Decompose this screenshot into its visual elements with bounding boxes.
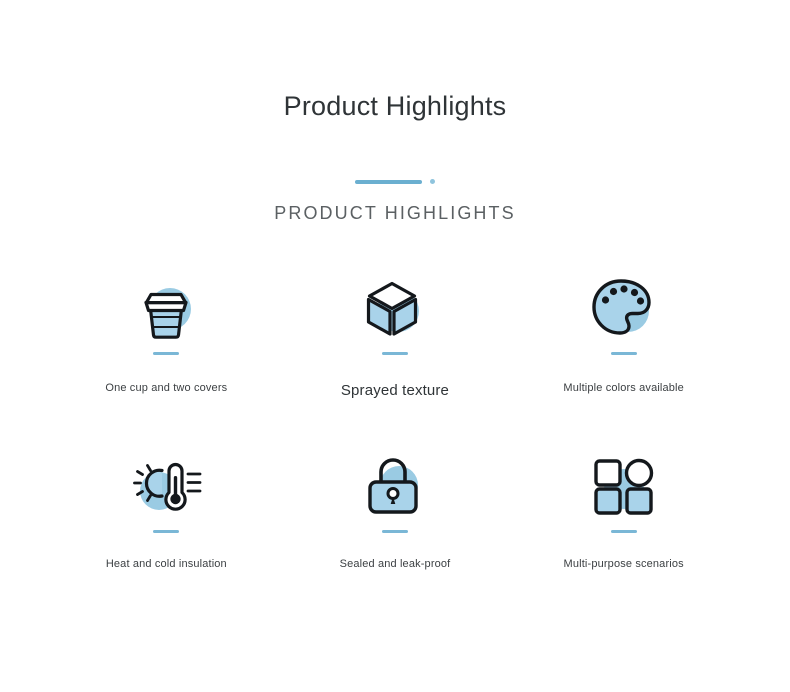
feature-label: Heat and cold insulation [106,558,227,570]
feature-cell-multi-purpose-scenarios: Multi-purpose scenarios [509,448,738,626]
feature-label: Sealed and leak-proof [340,558,451,570]
feature-label: Multiple colors available [563,382,684,394]
divider-dot [430,179,435,184]
paint-palette-icon [581,270,667,346]
page-header: Product Highlights PRODUCT HIGHLIGHTS [0,0,790,224]
page-subtitle: PRODUCT HIGHLIGHTS [0,203,790,224]
divider-line [355,180,422,184]
feature-grid: One cup and two covers Sprayed texture [0,270,790,626]
feature-cell-sprayed-texture: Sprayed texture [281,270,510,448]
coffee-cup-icon [123,270,209,346]
feature-label: Sprayed texture [341,382,449,399]
feature-cell-sealed-leak-proof: Sealed and leak-proof [281,448,510,626]
cube-box-icon [352,270,438,346]
padlock-icon [352,448,438,524]
feature-rule [611,352,637,355]
product-highlights-page: Product Highlights PRODUCT HIGHLIGHTS On… [0,0,790,692]
feature-rule [382,530,408,533]
feature-rule [382,352,408,355]
feature-cell-heat-cold-insulation: Heat and cold insulation [52,448,281,626]
title-divider [0,177,790,187]
feature-label: One cup and two covers [105,382,227,394]
page-title: Product Highlights [0,92,790,122]
thermometer-sun-icon [123,448,209,524]
feature-rule [153,352,179,355]
feature-rule [153,530,179,533]
grid-shapes-icon [581,448,667,524]
feature-label: Multi-purpose scenarios [564,558,684,570]
feature-rule [611,530,637,533]
feature-cell-multiple-colors: Multiple colors available [509,270,738,448]
feature-cell-one-cup-two-covers: One cup and two covers [52,270,281,448]
